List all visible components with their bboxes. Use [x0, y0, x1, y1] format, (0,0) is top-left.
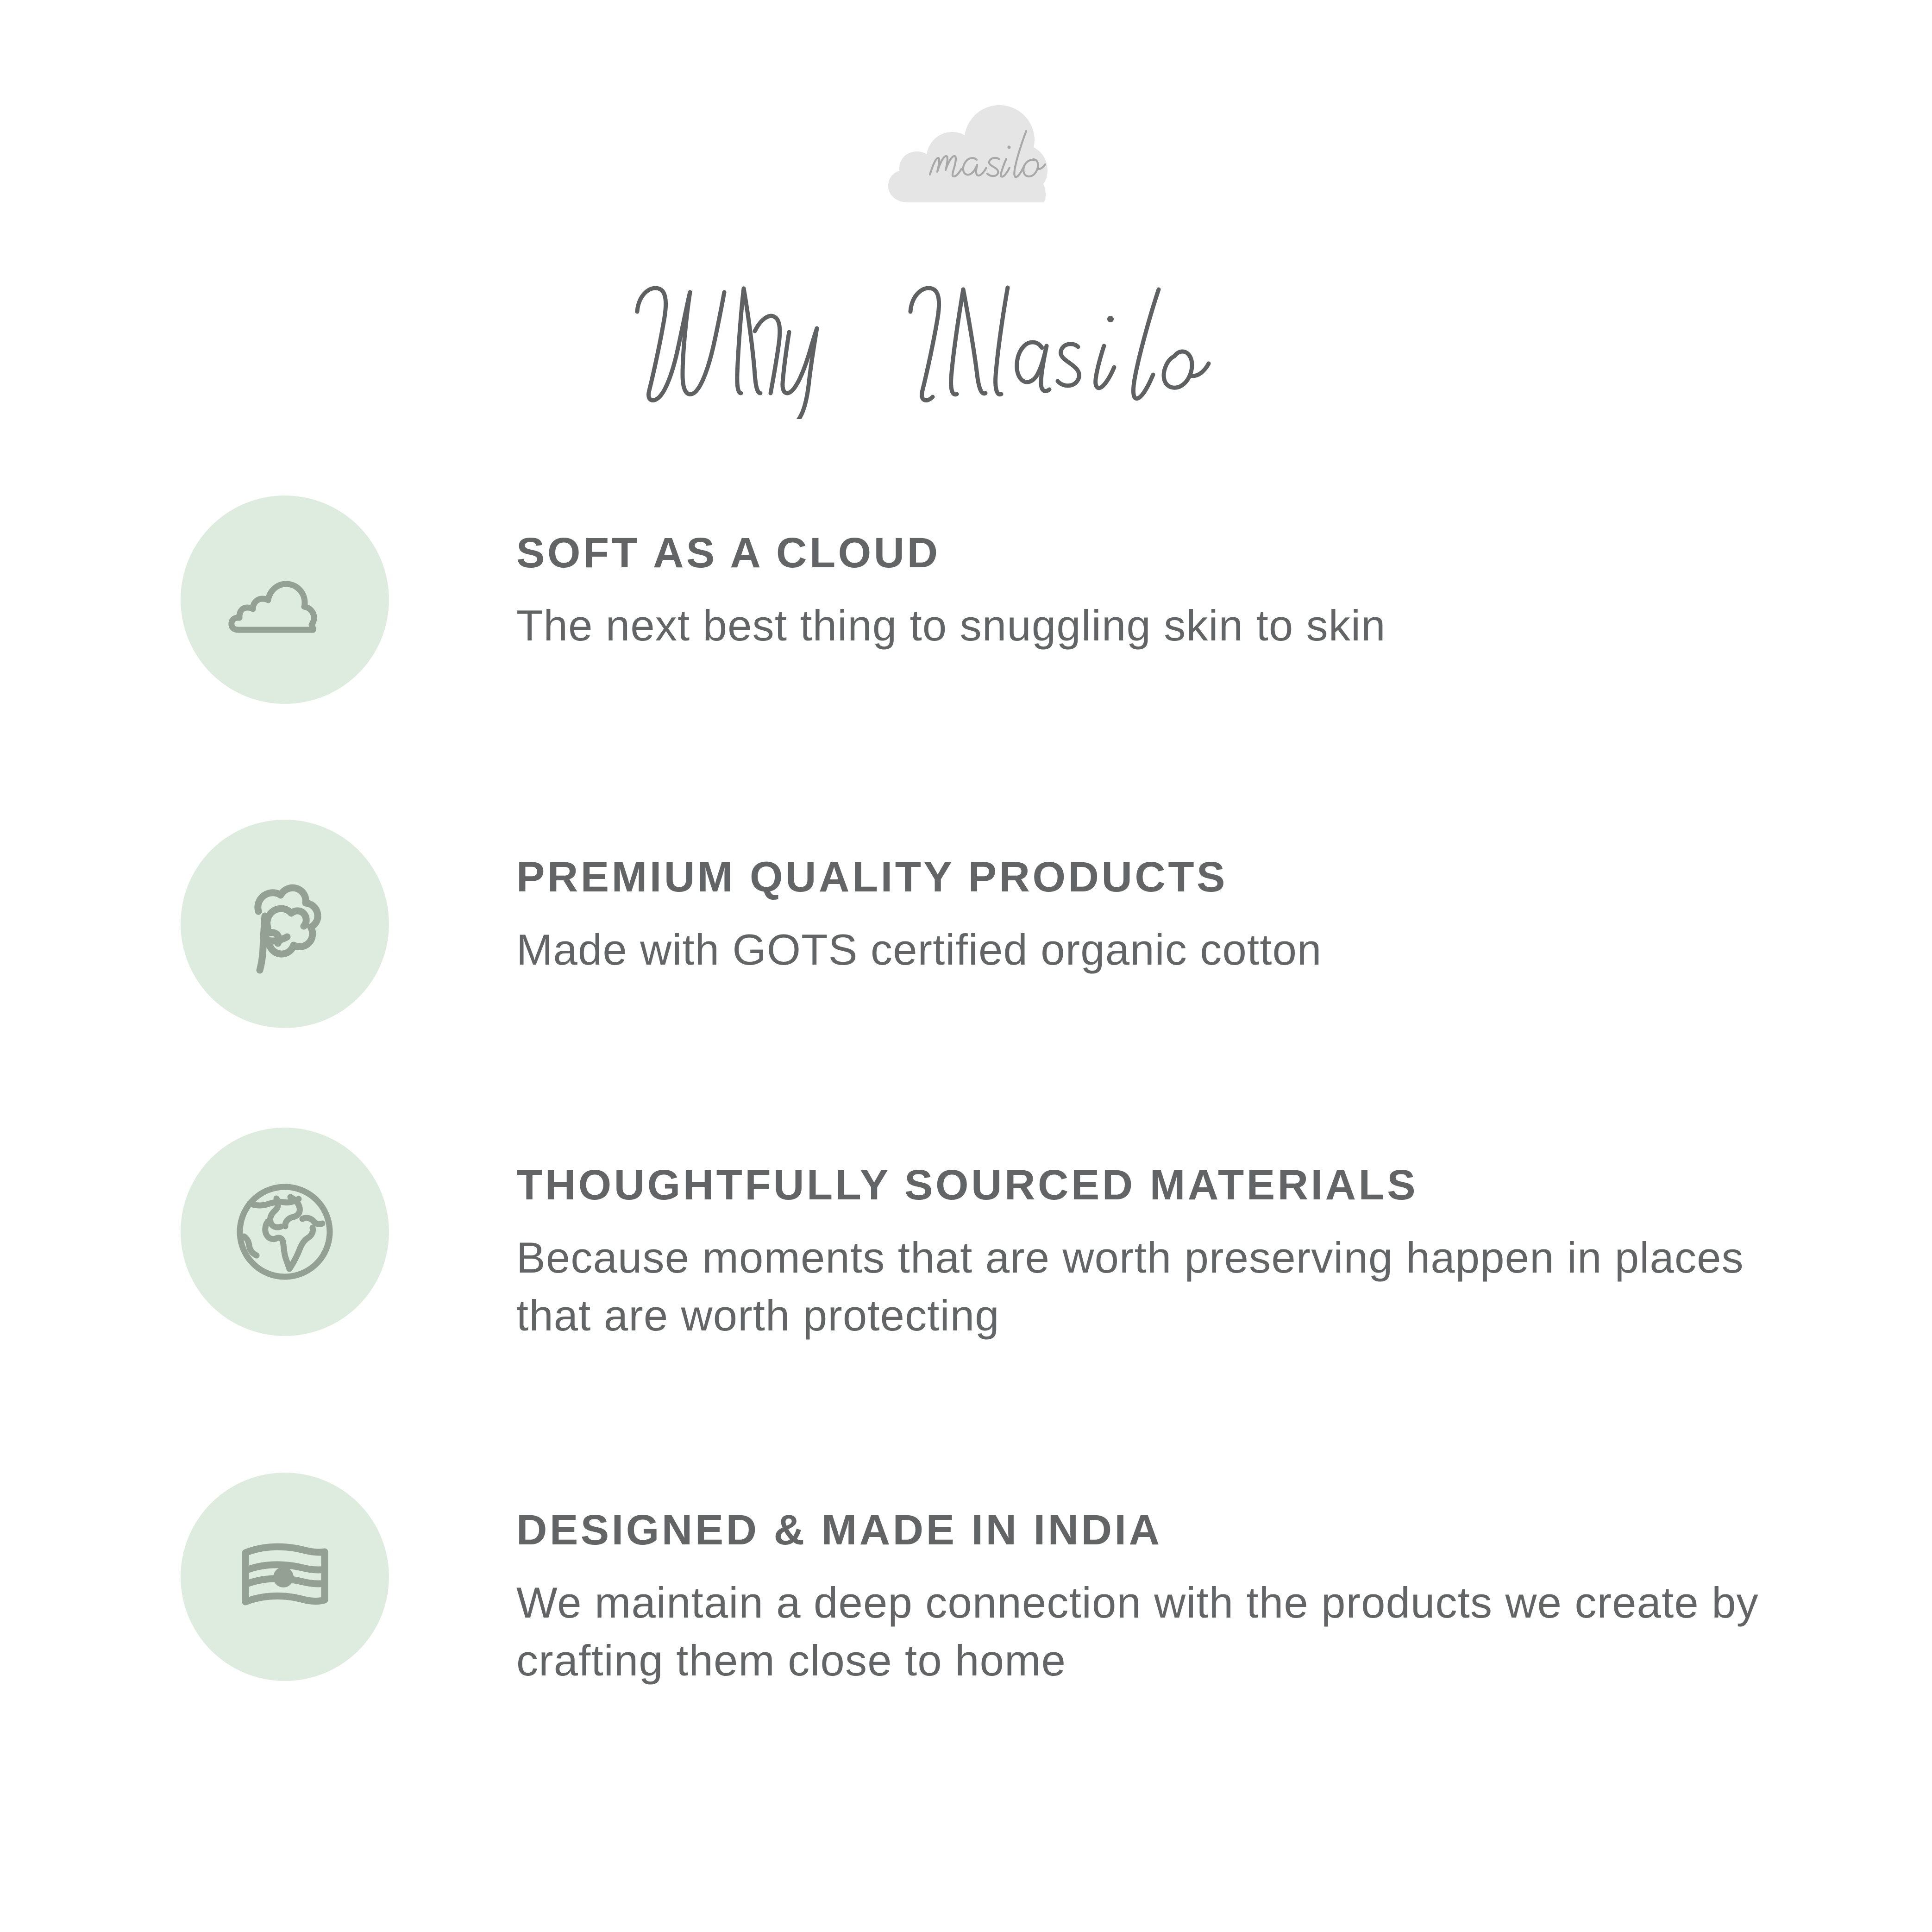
india-flag-icon	[220, 1512, 350, 1642]
feature-body: Made with GOTS certified organic cotton	[516, 921, 1776, 979]
feature-icon-badge	[181, 1473, 389, 1681]
feature-row: PREMIUM QUALITY PRODUCTS Made with GOTS …	[0, 820, 1932, 1028]
feature-icon-badge	[181, 496, 389, 704]
cloud-icon	[220, 535, 350, 665]
feature-row: SOFT AS A CLOUD The next best thing to s…	[0, 496, 1932, 704]
feature-heading: SOFT AS A CLOUD	[516, 532, 1776, 574]
cotton-boll-icon	[220, 859, 350, 989]
globe-icon	[220, 1167, 350, 1297]
feature-heading: PREMIUM QUALITY PRODUCTS	[516, 856, 1776, 898]
feature-row: DESIGNED & MADE IN INDIA We maintain a d…	[0, 1473, 1932, 1689]
feature-text-block: PREMIUM QUALITY PRODUCTS Made with GOTS …	[516, 820, 1776, 979]
page-title: Why Masilo	[0, 257, 1932, 424]
feature-body: The next best thing to snuggling skin to…	[516, 596, 1776, 654]
feature-text-block: SOFT AS A CLOUD The next best thing to s…	[516, 496, 1776, 654]
feature-row: THOUGHTFULLY SOURCED MATERIALS Because m…	[0, 1128, 1932, 1344]
feature-icon-badge	[181, 1128, 389, 1336]
feature-body: Because moments that are worth preservin…	[516, 1229, 1776, 1344]
cloud-logo-icon	[878, 95, 1054, 211]
feature-heading: DESIGNED & MADE IN INDIA	[516, 1509, 1776, 1551]
feature-text-block: THOUGHTFULLY SOURCED MATERIALS Because m…	[516, 1128, 1776, 1344]
feature-body: We maintain a deep connection with the p…	[516, 1574, 1776, 1689]
feature-text-block: DESIGNED & MADE IN INDIA We maintain a d…	[516, 1473, 1776, 1689]
page-title-script: Why Masilo	[605, 262, 1327, 419]
feature-heading: THOUGHTFULLY SOURCED MATERIALS	[516, 1164, 1776, 1206]
why-masilo-page: Why Masilo	[0, 0, 1932, 1932]
feature-icon-badge	[181, 820, 389, 1028]
brand-logo	[0, 95, 1932, 220]
